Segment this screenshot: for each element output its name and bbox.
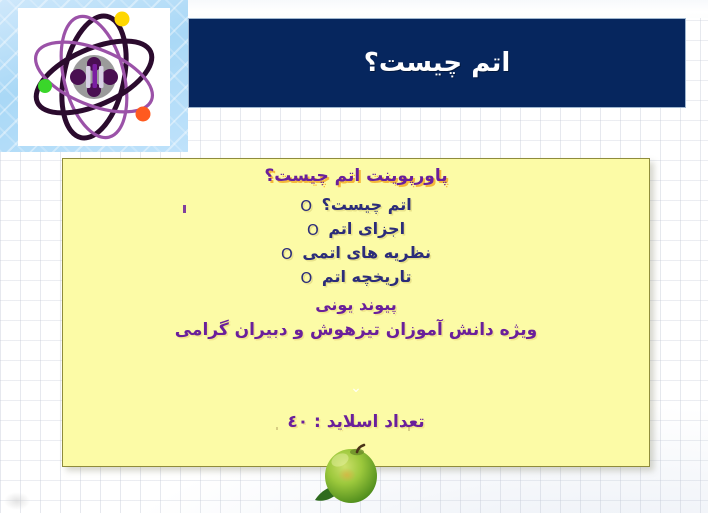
bullet-circle-icon: O [301, 268, 313, 290]
bullet-circle-icon: O [307, 220, 319, 242]
stray-mark [183, 205, 186, 213]
apple-image [307, 443, 387, 508]
slide-count-text: تعداد اسلاید : ٤٠ [63, 412, 649, 432]
list-item[interactable]: اجزای اتم O [63, 217, 649, 241]
subtitle-text: پیوند یونی [63, 295, 649, 314]
list-item[interactable]: اتم چیست؟ O [63, 193, 649, 217]
atom-illustration-icon [18, 8, 170, 146]
list-item[interactable]: تاریخچه اتم O [63, 265, 649, 289]
list-item-label: نظریه های اتمی [302, 243, 431, 262]
stray-mark [408, 427, 410, 431]
content-panel: پاورپوینت اتم چیست؟ اتم چیست؟ O اجزای ات… [62, 158, 650, 467]
list-item-label: اجزای اتم [328, 219, 405, 238]
atom-image-frame [18, 8, 170, 146]
electron-green [38, 79, 52, 93]
list-item[interactable]: نظریه های اتمی O [63, 241, 649, 265]
background-smudge [4, 492, 30, 510]
chevron-down-icon: ⌄ [350, 381, 362, 395]
electron-orange [136, 107, 151, 122]
green-apple-icon [307, 443, 387, 508]
electron-yellow [115, 12, 130, 27]
content-heading: پاورپوینت اتم چیست؟ [63, 166, 649, 186]
topic-list: اتم چیست؟ O اجزای اتم O نظریه های اتمی O… [63, 193, 649, 289]
presentation-slide: اتم چیست؟ پاورپوینت اتم چیست؟ اتم چیست؟ … [0, 0, 708, 513]
bullet-circle-icon: O [281, 244, 293, 266]
page-title: اتم چیست؟ [364, 48, 511, 78]
list-item-label: تاریخچه اتم [322, 267, 412, 286]
list-item-label: اتم چیست؟ [322, 195, 412, 214]
logo-panel [0, 0, 188, 152]
stray-mark [276, 427, 278, 430]
slide-title-banner: اتم چیست؟ [188, 18, 686, 108]
bullet-circle-icon: O [300, 196, 312, 218]
audience-text: ویژه دانش آموزان تیزهوش و دبیران گرامی [63, 320, 649, 340]
